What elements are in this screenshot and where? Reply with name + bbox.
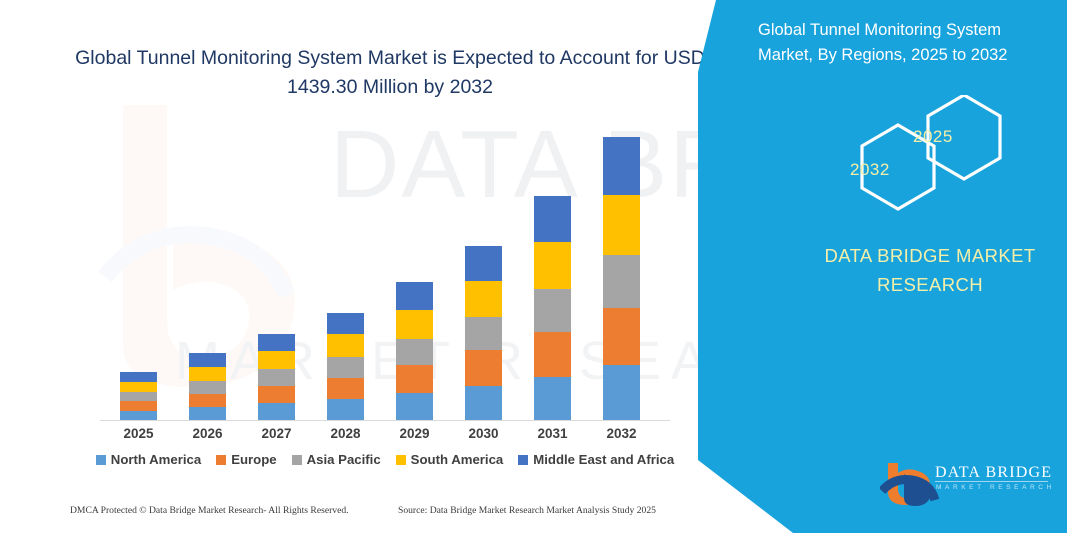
legend-swatch-icon <box>216 455 226 465</box>
bar-segment <box>189 367 226 381</box>
chart-legend: North AmericaEuropeAsia PacificSouth Ame… <box>95 452 675 467</box>
x-tick-label: 2028 <box>314 426 378 441</box>
bar-segment <box>258 386 295 403</box>
bar-segment <box>396 310 433 339</box>
hexagon-badges <box>820 95 1030 215</box>
legend-item[interactable]: Middle East and Africa <box>518 452 674 467</box>
legend-label: Asia Pacific <box>307 452 381 467</box>
bar-segment <box>396 339 433 365</box>
bar-segment <box>534 196 571 242</box>
bar-segment <box>120 392 157 401</box>
hexagon-2025-label: 2025 <box>913 127 953 147</box>
bar-segment <box>396 393 433 420</box>
logo-tagline: MARKET RESEARCH <box>936 484 1055 491</box>
bar-segment <box>465 386 502 420</box>
bar-segment <box>396 365 433 393</box>
x-tick-label: 2030 <box>452 426 516 441</box>
legend-label: Europe <box>231 452 276 467</box>
legend-swatch-icon <box>518 455 528 465</box>
bar-segment <box>603 255 640 308</box>
bar-segment <box>258 351 295 369</box>
bar-segment <box>534 289 571 331</box>
bar-segment <box>120 411 157 420</box>
legend-item[interactable]: South America <box>396 452 504 467</box>
infographic-canvas: DATA BRIDGE MARKET RESEARCH Global Tunne… <box>0 0 1067 533</box>
bar-segment <box>120 372 157 382</box>
footer: DMCA Protected © Data Bridge Market Rese… <box>0 505 700 527</box>
bar-segment <box>603 137 640 195</box>
bar-segment <box>465 350 502 385</box>
bar-segment <box>603 308 640 365</box>
bar-segment <box>465 246 502 281</box>
bar-segment <box>120 401 157 411</box>
legend-item[interactable]: Europe <box>216 452 276 467</box>
logo-wordmark: DATA BRIDGE <box>935 464 1052 482</box>
bar-segment <box>534 242 571 289</box>
brand-line-2: RESEARCH <box>877 274 983 295</box>
legend-label: Middle East and Africa <box>533 452 674 467</box>
bar-segment <box>258 369 295 385</box>
bar-column <box>189 353 226 420</box>
bar-segment <box>534 377 571 420</box>
bar-segment <box>327 378 364 400</box>
x-axis-line <box>100 420 670 421</box>
bar-segment <box>120 382 157 392</box>
bar-column <box>603 137 640 420</box>
bar-segment <box>327 357 364 378</box>
bar-segment <box>258 334 295 351</box>
bar-segment <box>258 403 295 420</box>
bar-column <box>258 334 295 420</box>
bar-segment <box>189 394 226 408</box>
brand-line-1: DATA BRIDGE MARKET <box>824 245 1035 266</box>
legend-item[interactable]: North America <box>96 452 201 467</box>
chart-plot-area <box>95 130 675 421</box>
legend-swatch-icon <box>96 455 106 465</box>
bar-segment <box>327 313 364 335</box>
footer-source: Source: Data Bridge Market Research Mark… <box>398 505 656 516</box>
x-tick-label: 2032 <box>590 426 654 441</box>
hexagon-2032-label: 2032 <box>850 160 890 180</box>
bar-column <box>396 282 433 420</box>
bar-segment <box>327 399 364 420</box>
bar-segment <box>603 365 640 420</box>
x-tick-label: 2027 <box>245 426 309 441</box>
bar-segment <box>189 407 226 420</box>
legend-item[interactable]: Asia Pacific <box>292 452 381 467</box>
x-tick-label: 2031 <box>521 426 585 441</box>
bar-segment <box>396 282 433 310</box>
legend-swatch-icon <box>396 455 406 465</box>
bar-segment <box>465 281 502 317</box>
banner-title: Global Tunnel Monitoring System Market, … <box>758 18 1048 68</box>
footer-copyright: DMCA Protected © Data Bridge Market Rese… <box>70 505 349 516</box>
x-axis-tick-labels: 20252026202720282029203020312032 <box>95 426 675 448</box>
bar-segment <box>327 334 364 357</box>
brand-name: DATA BRIDGE MARKET RESEARCH <box>790 242 1067 299</box>
legend-label: North America <box>111 452 201 467</box>
bar-segment <box>603 195 640 255</box>
bar-segment <box>189 353 226 367</box>
bar-column <box>120 372 157 420</box>
legend-swatch-icon <box>292 455 302 465</box>
bar-column <box>327 313 364 420</box>
x-tick-label: 2029 <box>383 426 447 441</box>
bar-column <box>534 196 571 420</box>
x-tick-label: 2025 <box>107 426 171 441</box>
bar-segment <box>465 317 502 350</box>
legend-label: South America <box>411 452 504 467</box>
page-title: Global Tunnel Monitoring System Market i… <box>70 44 710 102</box>
bar-column <box>465 246 502 420</box>
bar-segment <box>534 332 571 377</box>
bar-segment <box>189 381 226 394</box>
x-tick-label: 2026 <box>176 426 240 441</box>
stacked-bar-chart: 20252026202720282029203020312032 North A… <box>95 130 675 425</box>
